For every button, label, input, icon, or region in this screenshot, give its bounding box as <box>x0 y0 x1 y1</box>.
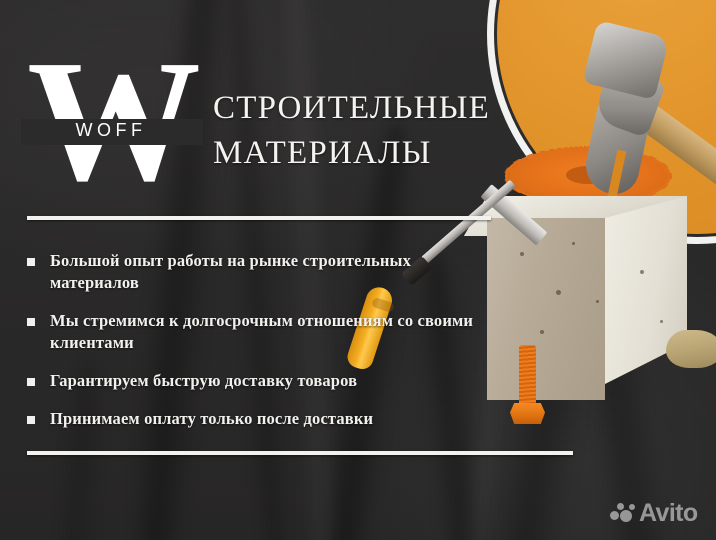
concrete-pore <box>520 252 524 256</box>
list-item: Гарантируем быструю доставку товаров <box>27 370 487 392</box>
page-title-line-1: СТРОИТЕЛЬНЫЕ <box>213 86 533 131</box>
feature-list: Большой опыт работы на рынке строительны… <box>27 250 487 430</box>
banner-canvas: W WOFF СТРОИТЕЛЬНЫЕ МАТЕРИАЛЫ Большой оп… <box>0 0 716 540</box>
concrete-pore <box>572 242 575 245</box>
page-title-line-2: МАТЕРИАЛЫ <box>213 131 533 176</box>
orange-bolt-head-icon <box>510 403 545 424</box>
concrete-block-front-face <box>487 218 605 400</box>
avito-wordmark: Avito <box>639 501 698 525</box>
square-bullet-icon <box>27 378 35 386</box>
concrete-pore <box>540 330 544 334</box>
orange-bolt-shaft-icon <box>519 345 536 413</box>
list-item-label: Гарантируем быструю доставку товаров <box>50 370 357 392</box>
avito-logo-icon <box>610 502 636 524</box>
divider-top <box>27 216 491 220</box>
avito-watermark: Avito <box>610 501 698 525</box>
square-bullet-icon <box>27 318 35 326</box>
logo-wordmark: WOFF <box>27 120 195 141</box>
paint-brush-icon <box>666 330 716 368</box>
list-item: Принимаем оплату только после доставки <box>27 408 487 430</box>
square-bullet-icon <box>27 258 35 266</box>
concrete-pore <box>556 290 561 295</box>
list-item-label: Принимаем оплату только после доставки <box>50 408 373 430</box>
divider-bottom <box>27 451 573 455</box>
square-bullet-icon <box>27 416 35 424</box>
brand-logo: W WOFF <box>27 58 195 190</box>
list-item: Мы стремимся к долгосрочным отношениям с… <box>27 310 487 354</box>
list-item: Большой опыт работы на рынке строительны… <box>27 250 487 294</box>
page-title: СТРОИТЕЛЬНЫЕ МАТЕРИАЛЫ <box>213 86 533 176</box>
list-item-label: Мы стремимся к долгосрочным отношениям с… <box>50 310 487 354</box>
list-item-label: Большой опыт работы на рынке строительны… <box>50 250 487 294</box>
concrete-pore <box>660 320 663 323</box>
concrete-pore <box>596 300 599 303</box>
concrete-pore <box>640 270 644 274</box>
